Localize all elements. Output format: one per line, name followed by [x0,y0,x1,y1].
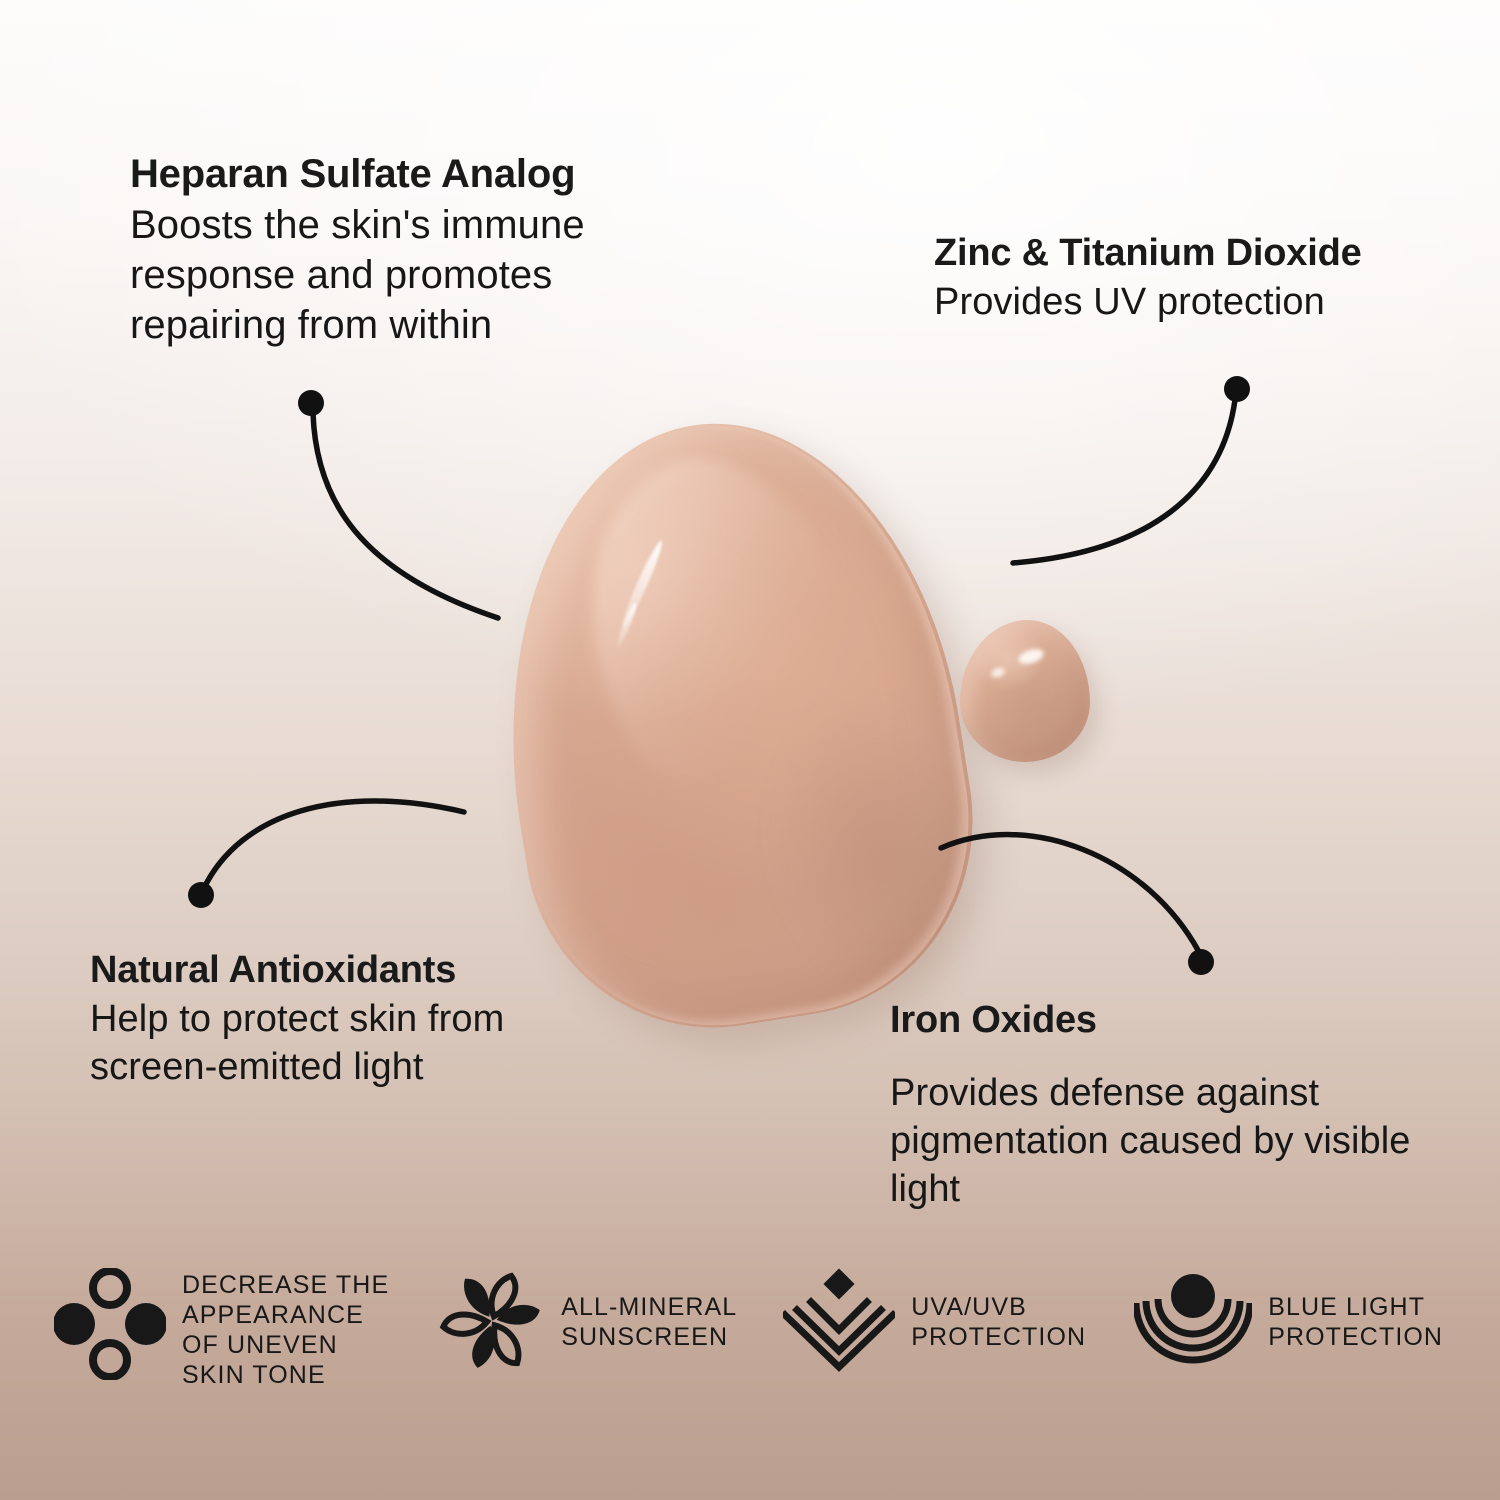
badge-label: UVA/UVB PROTECTION [911,1268,1086,1352]
callout-zinc-titanium-dioxide: Zinc & Titanium Dioxide Provides UV prot… [934,228,1474,326]
badge-all-mineral-sunscreen: ALL-MINERAL SUNSCREEN [439,1268,737,1379]
badge-decrease-uneven-skin-tone: DECREASE THE APPEARANCE OF UNEVEN SKIN T… [54,1268,389,1390]
connector-antioxidants [203,801,464,890]
chevrons-diamond-icon [783,1268,895,1377]
connector-dot-zinc [1224,376,1250,402]
infographic-canvas: Heparan Sulfate Analog Boosts the skin's… [0,0,1500,1500]
callout-title: Zinc & Titanium Dioxide [934,228,1474,278]
radiating-waves-icon [1134,1268,1252,1377]
connector-dot-heparan [298,390,324,416]
callout-body: Boosts the skin's immune response and pr… [130,200,670,350]
badge-label: BLUE LIGHT PROTECTION [1268,1268,1443,1352]
callout-title: Heparan Sulfate Analog [130,148,670,200]
badge-uva-uvb-protection: UVA/UVB PROTECTION [783,1268,1086,1377]
connector-zinc [1013,400,1235,563]
callout-iron-oxides: Iron Oxides Provides defense against pig… [890,995,1430,1213]
badge-blue-light-protection: BLUE LIGHT PROTECTION [1134,1268,1443,1377]
callout-heparan-sulfate-analog: Heparan Sulfate Analog Boosts the skin's… [130,148,670,350]
callout-body: Provides defense against pigmentation ca… [890,1069,1430,1213]
callout-body: Provides UV protection [934,278,1474,326]
callout-title: Natural Antioxidants [90,945,630,995]
callout-body: Help to protect skin from screen-emitted… [90,995,630,1091]
callout-natural-antioxidants: Natural Antioxidants Help to protect ski… [90,945,630,1091]
connector-heparan [313,413,498,618]
connector-dot-antioxidants [188,882,214,908]
benefit-badge-row: DECREASE THE APPEARANCE OF UNEVEN SKIN T… [0,1268,1500,1458]
connector-dot-iron [1188,949,1214,975]
badge-label: ALL-MINERAL SUNSCREEN [561,1268,737,1352]
foundation-droplet [960,620,1090,762]
callout-title: Iron Oxides [890,995,1430,1045]
four-circles-icon [54,1268,166,1385]
flower-petals-icon [439,1268,545,1379]
connector-iron [941,835,1199,952]
badge-label: DECREASE THE APPEARANCE OF UNEVEN SKIN T… [182,1268,389,1390]
